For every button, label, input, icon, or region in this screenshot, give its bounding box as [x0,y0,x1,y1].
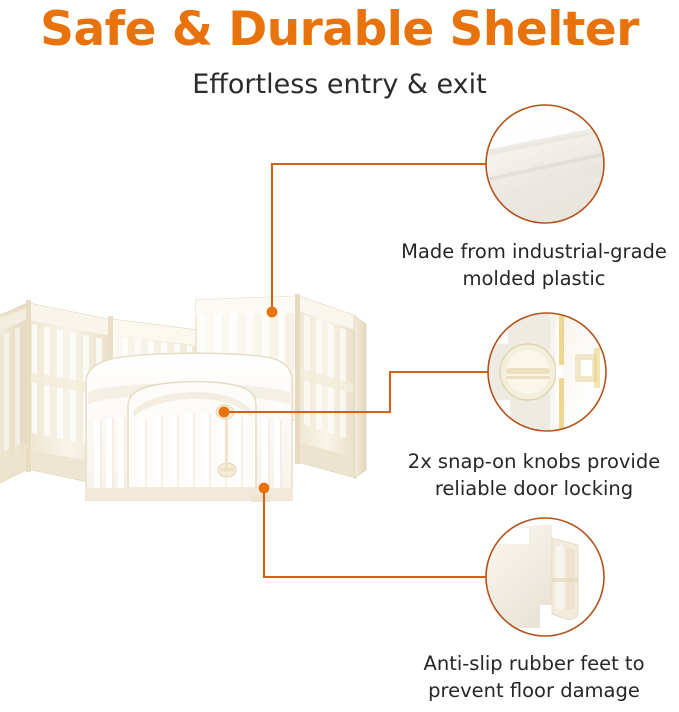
callout-caption-snap-knobs: 2x snap-on knobs provide reliable door l… [389,448,679,502]
callout-caption-rubber-feet: Anti-slip rubber feet to prevent floor d… [389,650,679,704]
callout-circle-rubber-foot [486,518,604,636]
connector-dot-3 [259,483,270,494]
connector-dot-1 [267,307,278,318]
callout-circle-molded-plastic [486,96,604,224]
caption-line: 2x snap-on knobs provide [389,448,679,475]
caption-line: prevent floor damage [389,677,679,704]
caption-line: reliable door locking [389,475,679,502]
caption-line: molded plastic [389,265,679,292]
infographic-canvas: Safe & Durable Shelter Effortless entry … [0,0,679,712]
connector-line-2 [224,372,488,412]
caption-line: Anti-slip rubber feet to [389,650,679,677]
callout-circle-snap-knob [488,313,606,431]
connector-dot-2 [219,407,230,418]
caption-line: Made from industrial-grade [389,238,679,265]
callout-caption-molded-plastic: Made from industrial-grade molded plasti… [389,238,679,292]
callout-layer [0,0,679,712]
